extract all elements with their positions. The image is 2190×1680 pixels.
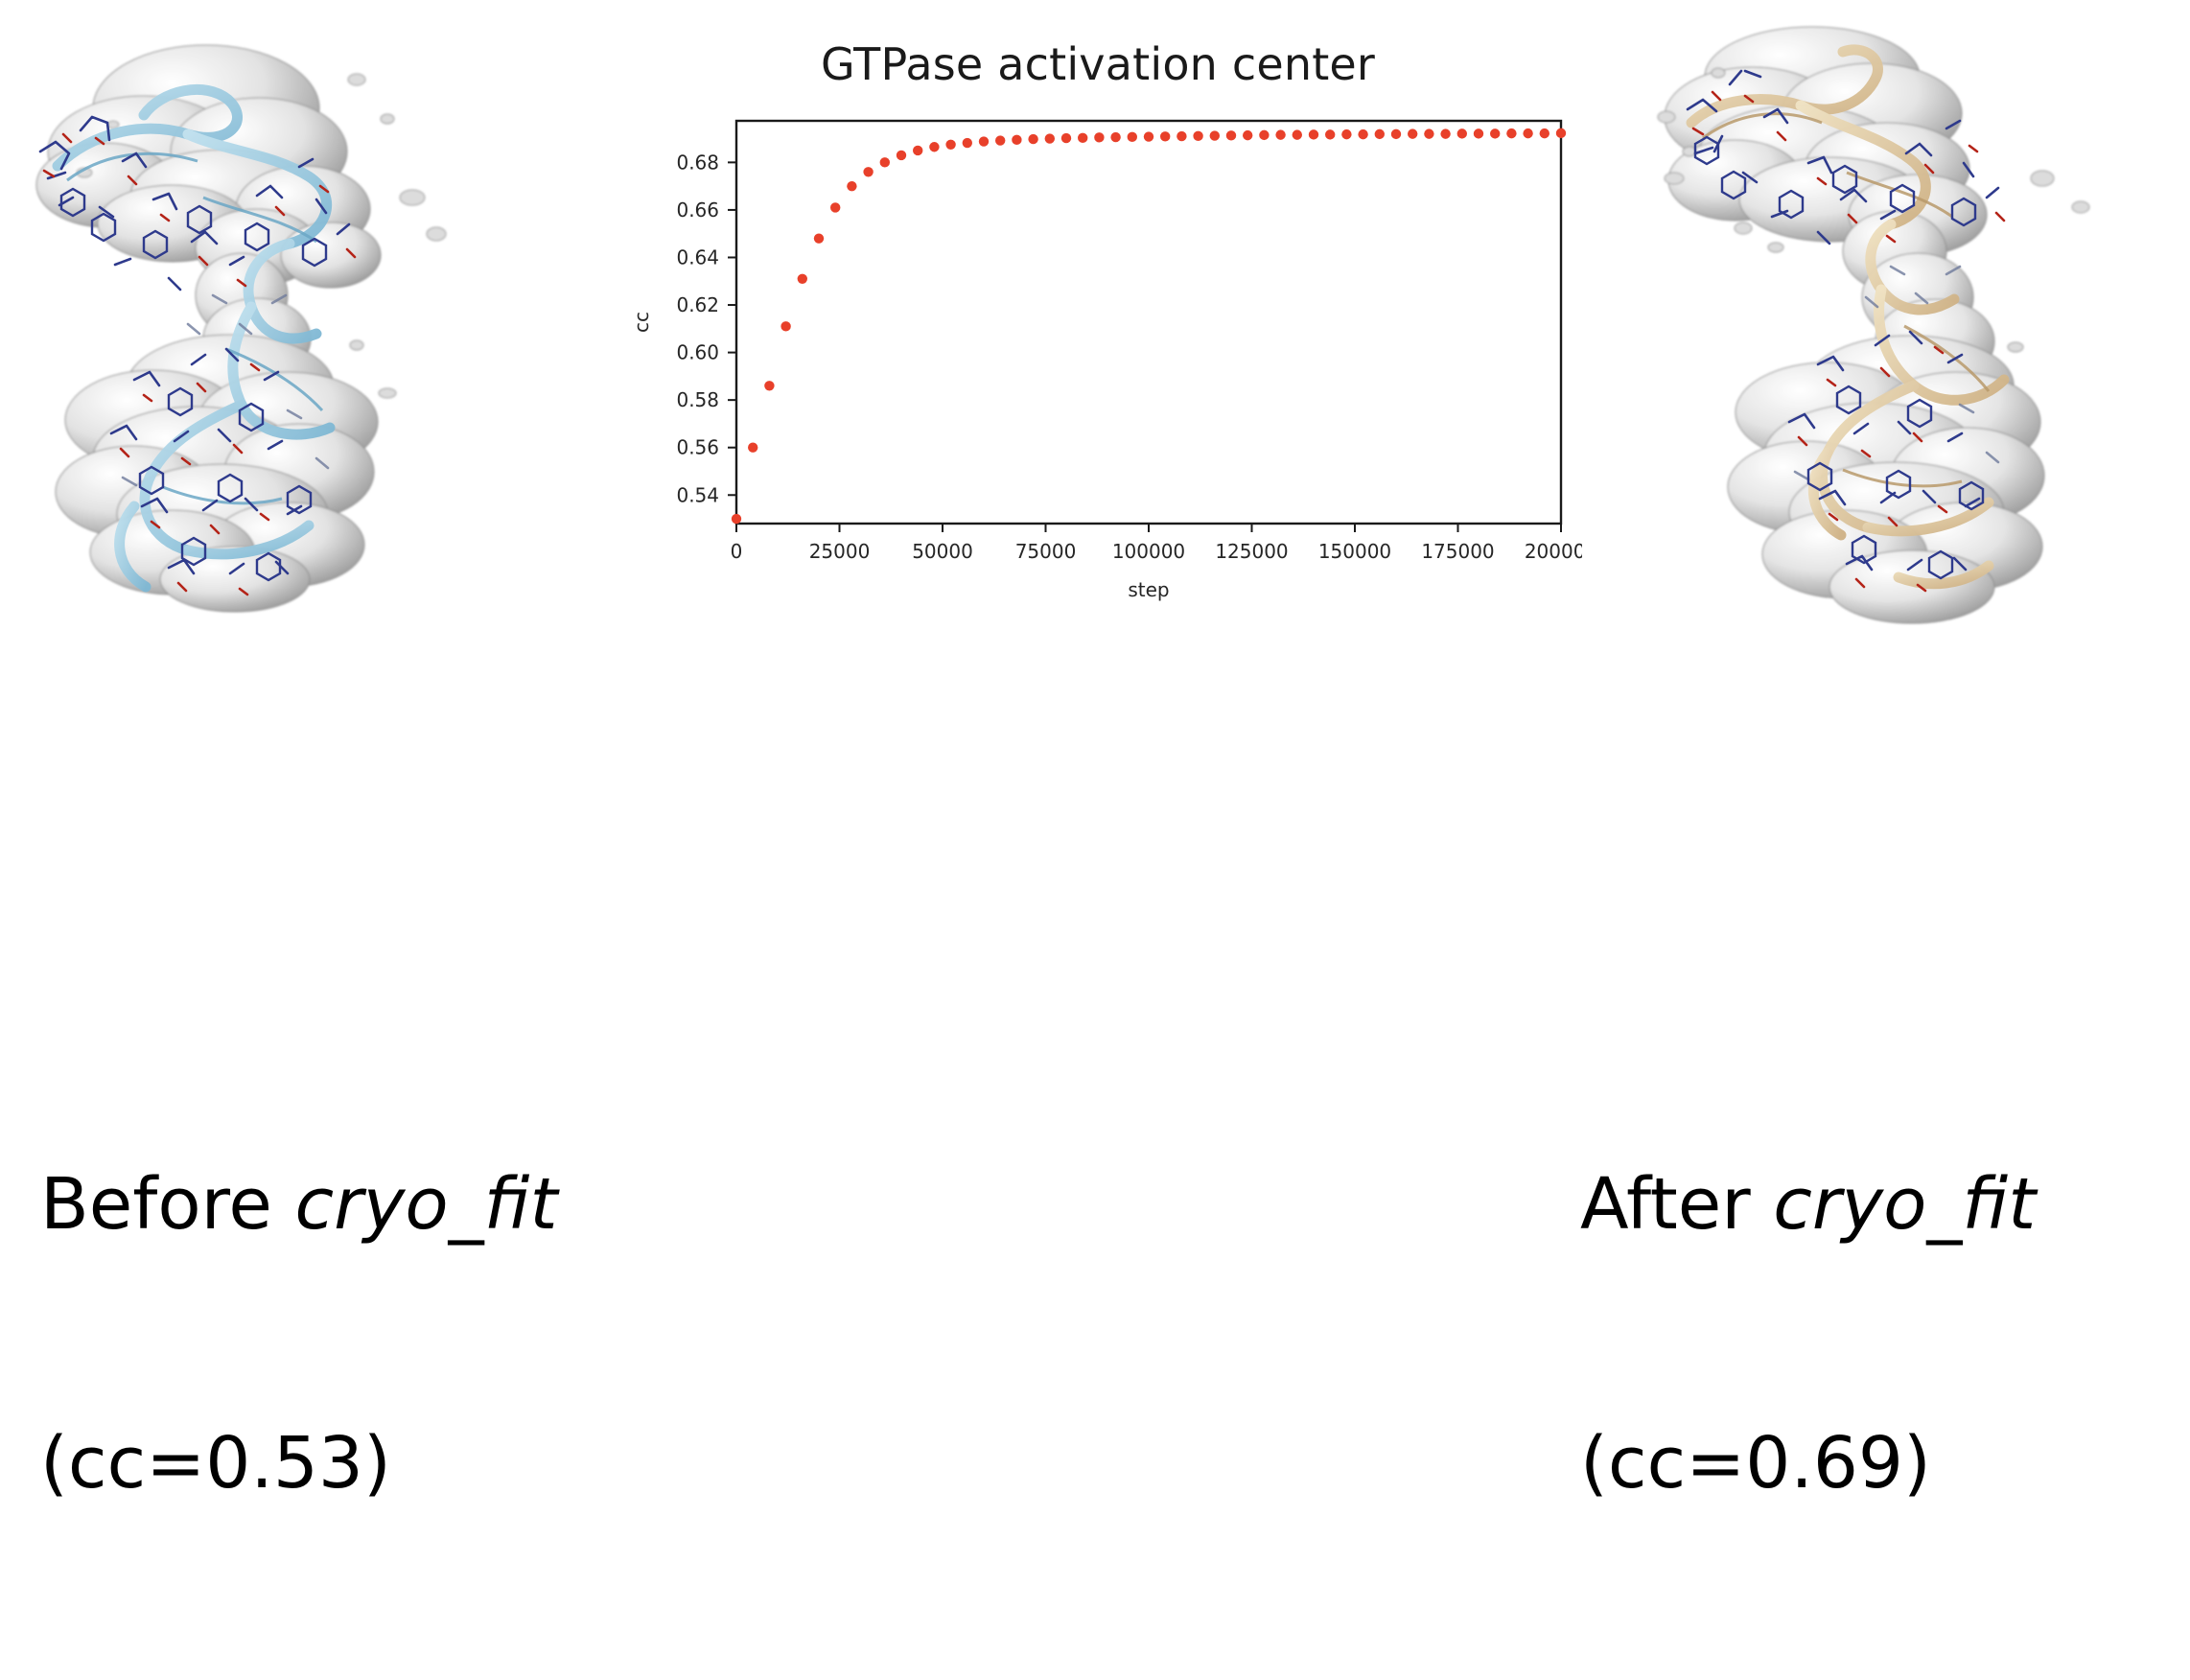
x-tick-label: 150000	[1318, 540, 1391, 563]
before-caption-plain: Before	[40, 1163, 294, 1246]
data-point	[1358, 129, 1367, 139]
data-point	[1490, 128, 1500, 138]
data-point	[1375, 129, 1385, 139]
data-point	[1275, 129, 1285, 139]
scatter-plot: 0250005000075000100000125000150000175000…	[614, 105, 1582, 623]
data-point	[1457, 128, 1467, 138]
data-point	[1144, 131, 1153, 141]
data-point	[1045, 133, 1055, 143]
data-point	[863, 167, 873, 176]
data-point	[979, 136, 989, 146]
data-point	[1094, 132, 1104, 142]
plot-frame	[736, 121, 1561, 524]
y-tick-label: 0.56	[676, 436, 719, 459]
data-point	[1012, 135, 1021, 145]
x-tick-label: 200000	[1525, 540, 1582, 563]
data-point	[1556, 128, 1566, 138]
data-point	[748, 443, 757, 453]
data-point	[798, 274, 807, 284]
x-axis-label: step	[1128, 578, 1169, 601]
data-point	[1424, 128, 1433, 138]
y-tick-label: 0.62	[676, 293, 719, 316]
before-cryofit-render	[0, 8, 537, 621]
data-point	[1440, 128, 1450, 138]
after-caption: After cryo_fit (cc=0.69)	[1580, 988, 2036, 1680]
before-caption-italic: cryo_fit	[294, 1163, 557, 1246]
after-caption-italic: cryo_fit	[1773, 1163, 2036, 1246]
data-point	[1391, 129, 1401, 139]
data-point	[1243, 130, 1252, 140]
y-tick-label: 0.64	[676, 245, 719, 268]
x-tick-label: 0	[731, 540, 743, 563]
y-axis-label: cc	[630, 312, 653, 333]
after-cryofit-render	[1630, 10, 2167, 633]
data-point	[1293, 129, 1302, 139]
after-caption-line2: (cc=0.69)	[1580, 1420, 2036, 1506]
before-caption: Before cryo_fit (cc=0.53)	[40, 988, 557, 1680]
data-point	[897, 151, 906, 160]
data-point	[1259, 130, 1269, 140]
after-cryofit-image	[1630, 10, 2167, 633]
data-point	[847, 181, 856, 191]
y-tick-label: 0.66	[676, 198, 719, 222]
before-cryofit-image	[0, 8, 537, 621]
data-point	[995, 135, 1005, 145]
data-point	[1160, 131, 1170, 141]
data-point	[929, 142, 939, 152]
data-point	[1523, 128, 1532, 138]
data-point	[945, 140, 955, 150]
data-point	[1540, 128, 1549, 138]
slide-canvas: GTPase activation center 025000500007500…	[0, 0, 2190, 1243]
x-tick-label: 100000	[1112, 540, 1185, 563]
data-point	[913, 146, 922, 155]
y-tick-label: 0.58	[676, 388, 719, 411]
cc-convergence-chart: GTPase activation center 025000500007500…	[614, 29, 1582, 623]
data-point	[1078, 133, 1087, 143]
data-point	[1193, 131, 1202, 141]
data-point	[1309, 129, 1318, 139]
data-point	[764, 381, 774, 390]
x-tick-label: 75000	[1015, 540, 1077, 563]
data-point	[1408, 128, 1417, 138]
series-cc	[732, 128, 1566, 525]
data-point	[732, 514, 741, 524]
data-point	[1325, 129, 1335, 139]
data-point	[780, 321, 790, 331]
chart-title: GTPase activation center	[614, 38, 1582, 90]
data-point	[1177, 131, 1186, 141]
x-tick-label: 25000	[809, 540, 871, 563]
data-point	[963, 138, 972, 148]
data-point	[1474, 128, 1483, 138]
data-point	[1210, 130, 1220, 140]
after-caption-plain: After	[1580, 1163, 1773, 1246]
y-tick-label: 0.68	[676, 151, 719, 174]
data-point	[1341, 129, 1351, 139]
data-point	[1128, 132, 1137, 142]
x-tick-label: 50000	[912, 540, 973, 563]
y-tick-label: 0.54	[676, 483, 719, 506]
data-point	[1226, 130, 1236, 140]
x-tick-label: 125000	[1215, 540, 1288, 563]
data-point	[1506, 128, 1516, 138]
data-point	[830, 202, 840, 212]
before-caption-line2: (cc=0.53)	[40, 1420, 557, 1506]
before-caption-line1: Before cryo_fit	[40, 1161, 557, 1248]
y-tick-label: 0.60	[676, 341, 719, 364]
data-point	[1061, 133, 1071, 143]
data-point	[880, 157, 890, 167]
data-point	[814, 233, 824, 243]
data-point	[1028, 134, 1037, 144]
after-caption-line1: After cryo_fit	[1580, 1161, 2036, 1248]
x-tick-label: 175000	[1421, 540, 1494, 563]
data-point	[1110, 132, 1120, 142]
